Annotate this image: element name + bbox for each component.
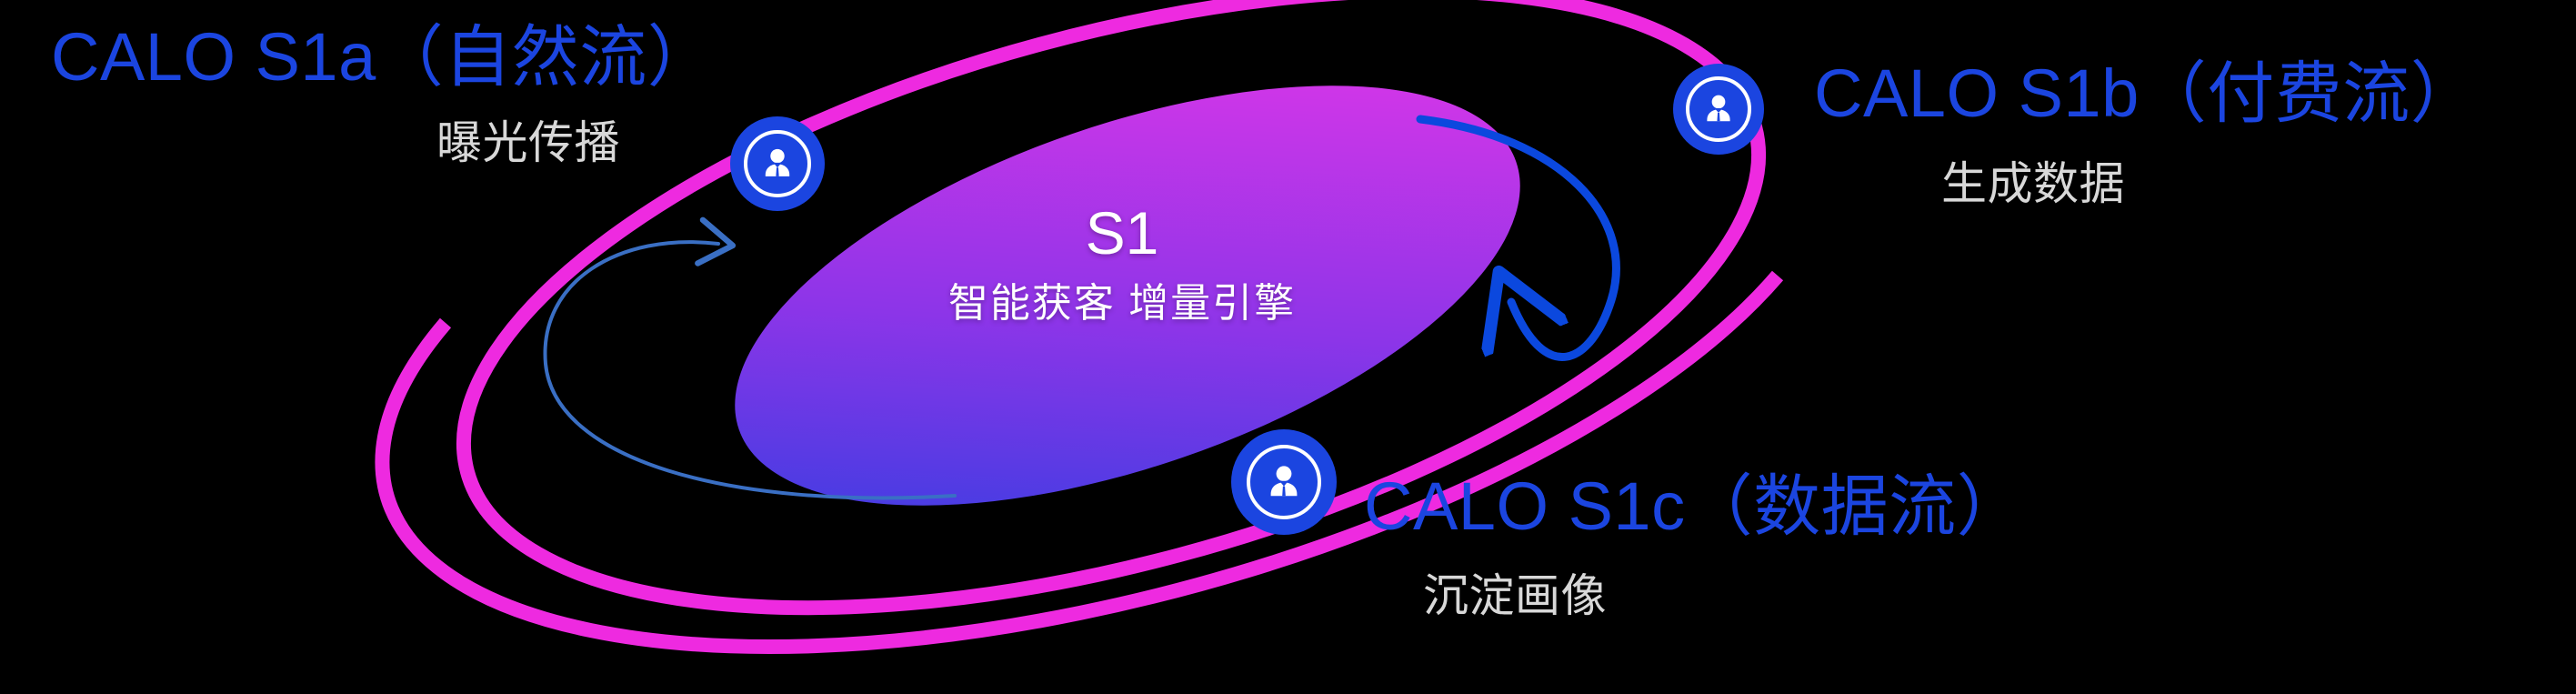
node-title-s1c: CALO S1c（数据流）	[1364, 469, 2024, 543]
person-in-suit-icon	[1699, 90, 1738, 128]
node-subtitle-s1c: 沉淀画像	[1423, 571, 1607, 621]
node-subtitle-s1b: 生成数据	[1941, 159, 2125, 209]
node-title-s1a: CALO S1a（自然流）	[51, 20, 715, 94]
core-subtitle: 智能获客 增量引擎	[895, 270, 1349, 328]
node-title-s1b: CALO S1b（付费流）	[1814, 56, 2478, 130]
person-in-suit-icon	[1262, 460, 1306, 504]
core-label-group: S1 智能获客 增量引擎	[895, 202, 1349, 328]
person-in-suit-icon	[757, 144, 797, 184]
node-marker-s1a[interactable]	[730, 116, 825, 211]
node-subtitle-s1a: 曝光传播	[436, 118, 620, 168]
node-marker-s1c[interactable]	[1231, 429, 1337, 535]
core-title: S1	[895, 202, 1349, 265]
diagram-canvas: S1 智能获客 增量引擎 CALO S1a（自然流） 曝光传播	[0, 0, 2576, 694]
node-marker-s1b[interactable]	[1673, 64, 1764, 155]
